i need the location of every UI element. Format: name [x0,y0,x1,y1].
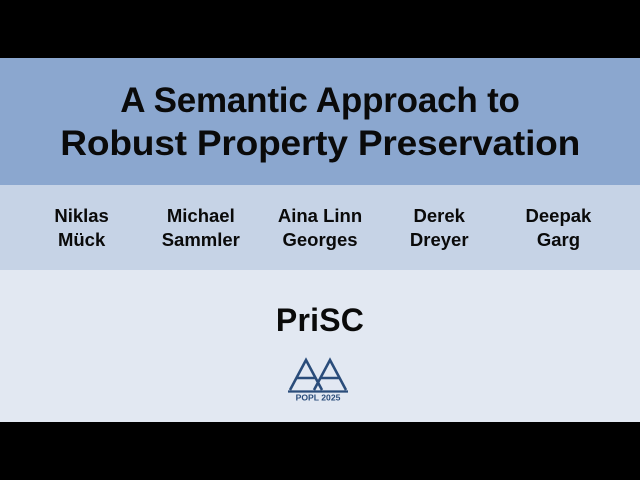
author-1-first-name: Niklas [22,204,141,228]
popl-2025-logo-caption: POPL 2025 [296,393,341,403]
author-5: Deepak Garg [499,204,618,252]
presentation-slide: A Semantic Approach to Robust Property P… [0,58,640,422]
author-4-last-name: Dreyer [380,228,499,252]
author-1: Niklas Mück [22,204,141,252]
author-3-first-name: Aina Linn [260,204,379,228]
venue-title: PriSC [276,302,364,338]
author-5-last-name: Garg [499,228,618,252]
letterbox-bar-top [0,0,640,58]
author-2: Michael Sammler [141,204,260,252]
author-5-first-name: Deepak [499,204,618,228]
slide-title-line-1: A Semantic Approach to [120,79,519,122]
authors-band: Niklas Mück Michael Sammler Aina Linn Ge… [0,185,640,270]
slide-title-line-2: Robust Property Preservation [60,122,580,165]
author-3-last-name: Georges [260,228,379,252]
author-3: Aina Linn Georges [260,204,379,252]
title-band: A Semantic Approach to Robust Property P… [0,58,640,185]
video-frame: A Semantic Approach to Robust Property P… [0,0,640,480]
author-2-last-name: Sammler [141,228,260,252]
letterbox-bar-bottom [0,422,640,480]
author-4: Derek Dreyer [380,204,499,252]
venue-band: PriSC POPL 2025 [0,270,640,422]
author-1-last-name: Mück [22,228,141,252]
author-2-first-name: Michael [141,204,260,228]
popl-2025-logo-icon: POPL 2025 [282,352,358,402]
author-4-first-name: Derek [380,204,499,228]
